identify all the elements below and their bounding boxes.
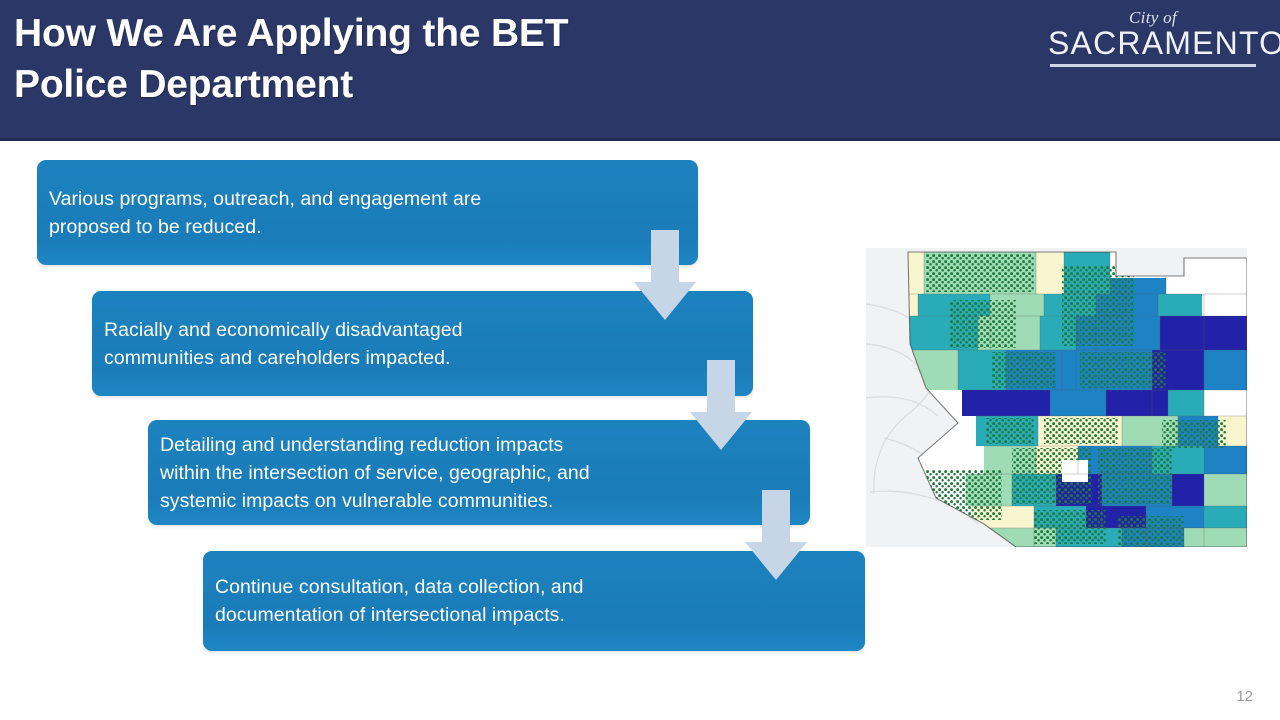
- equity-choropleth-map-image: [866, 248, 1247, 547]
- city-of-sacramento-logo: City of SACRAMENTO: [1048, 8, 1258, 67]
- flow-step-text-3: Detailing and understanding reduction im…: [148, 431, 604, 515]
- flow-step-text-4: Continue consultation, data collection, …: [203, 573, 598, 629]
- map-inset-block: [1062, 460, 1088, 482]
- down-arrow-icon-1: [634, 230, 696, 326]
- map-svg: [866, 248, 1247, 547]
- page-title: How We Are Applying the BET Police Depar…: [14, 8, 754, 110]
- logo-wordmark: SACRAMENTO: [1048, 26, 1258, 60]
- down-arrow-icon-3: [745, 490, 807, 586]
- down-arrow-icon-2: [690, 360, 752, 456]
- page-number: 12: [1236, 688, 1253, 706]
- logo-underline-rule: [1050, 64, 1256, 67]
- flow-step-text-2: Racially and economically disadvantaged …: [92, 316, 477, 372]
- flow-step-box-1: Various programs, outreach, and engageme…: [37, 160, 698, 265]
- flow-step-text-1: Various programs, outreach, and engageme…: [37, 185, 495, 241]
